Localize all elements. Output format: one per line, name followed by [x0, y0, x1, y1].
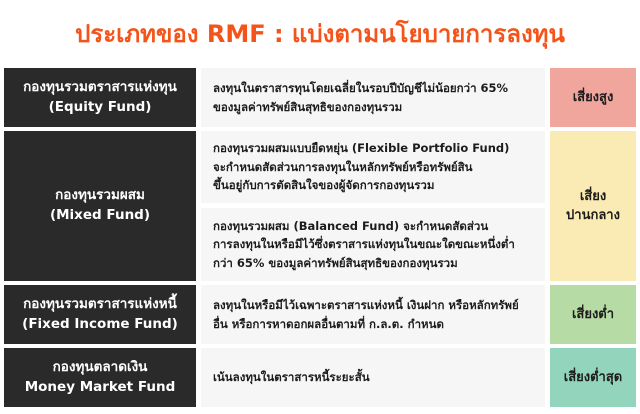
fund-name-english: (Equity Fund): [49, 98, 152, 118]
description-line: เน้นลงทุนในตราสารหนี้ระยะสั้น: [213, 368, 535, 387]
fund-name-thai: กองทุนรวมผสม: [55, 186, 145, 206]
fund-name-thai: กองทุนตลาดเงิน: [53, 358, 148, 378]
risk-badge-medium: เสี่ยง ปานกลาง: [550, 131, 636, 281]
page-title-text: ประเภทของ RMF : แบ่งตามนโยบายการลงทุน: [75, 21, 565, 47]
page-title: ประเภทของ RMF : แบ่งตามนโยบายการลงทุน: [0, 10, 640, 58]
infographic-page: ประเภทของ RMF : แบ่งตามนโยบายการลงทุน กอ…: [0, 0, 640, 414]
table-row: กองทุนรวมตราสารแห่งทุน (Equity Fund) ลงท…: [4, 68, 636, 127]
risk-badge-label: ปานกลาง: [566, 206, 620, 226]
fund-name-thai: กองทุนรวมตราสารแห่งหนี้: [23, 295, 177, 315]
fund-types-table: กองทุนรวมตราสารแห่งทุน (Equity Fund) ลงท…: [4, 68, 636, 410]
table-row: กองทุนรวมตราสารแห่งหนี้ (Fixed Income Fu…: [4, 285, 636, 344]
fund-name-cell-fixed-income: กองทุนรวมตราสารแห่งหนี้ (Fixed Income Fu…: [4, 285, 196, 344]
risk-badge-high: เสี่ยงสูง: [550, 68, 636, 127]
description-line: ของมูลค่าทรัพย์สินสุทธิของกองทุนรวม: [213, 98, 535, 117]
risk-badge-label: เสี่ยงต่ำ: [572, 305, 614, 325]
risk-badge-lowest: เสี่ยงต่ำสุด: [550, 348, 636, 407]
description-column: เน้นลงทุนในตราสารหนี้ระยะสั้น: [201, 348, 545, 407]
description-line: ขึ้นอยู่กับการตัดสินใจของผู้จัดการกองทุน…: [213, 176, 535, 195]
fund-name-cell-money-market: กองทุนตลาดเงิน Money Market Fund: [4, 348, 196, 407]
description-line: กว่า 65% ของมูลค่าทรัพย์สินสุทธิของกองทุ…: [213, 254, 535, 273]
description-line: ลงทุนในหรือมีไว้เฉพาะตราสารแห่งหนี้ เงิน…: [213, 296, 535, 315]
fund-description-cell: ลงทุนในตราสารทุนโดยเฉลี่ยในรอบปีบัญชีไม่…: [201, 68, 545, 127]
description-column: กองทุนรวมผสมแบบยืดหยุ่น (Flexible Portfo…: [201, 131, 545, 281]
fund-name-thai: กองทุนรวมตราสารแห่งทุน: [23, 78, 177, 98]
fund-name-english: (Fixed Income Fund): [22, 315, 178, 335]
description-column: ลงทุนในหรือมีไว้เฉพาะตราสารแห่งหนี้ เงิน…: [201, 285, 545, 344]
risk-badge-label: เสี่ยงต่ำสุด: [564, 368, 622, 388]
risk-badge-label: เสี่ยงสูง: [573, 88, 614, 108]
description-line: กองทุนรวมผสม (Balanced Fund) จะกำหนดสัดส…: [213, 217, 535, 236]
risk-badge-low: เสี่ยงต่ำ: [550, 285, 636, 344]
fund-name-cell-equity: กองทุนรวมตราสารแห่งทุน (Equity Fund): [4, 68, 196, 127]
fund-description-cell-balanced: กองทุนรวมผสม (Balanced Fund) จะกำหนดสัดส…: [201, 208, 545, 281]
description-line: ลงทุนในตราสารทุนโดยเฉลี่ยในรอบปีบัญชีไม่…: [213, 79, 535, 98]
fund-name-cell-mixed: กองทุนรวมผสม (Mixed Fund): [4, 131, 196, 281]
description-line: การลงทุนในหรือมีไว้ซึ่งตราสารแห่งทุนในขณ…: [213, 235, 535, 254]
fund-description-cell: เน้นลงทุนในตราสารหนี้ระยะสั้น: [201, 348, 545, 407]
description-line: กองทุนรวมผสมแบบยืดหยุ่น (Flexible Portfo…: [213, 139, 535, 158]
risk-badge-label: เสี่ยง: [580, 187, 606, 207]
fund-description-cell: ลงทุนในหรือมีไว้เฉพาะตราสารแห่งหนี้ เงิน…: [201, 285, 545, 344]
table-row: กองทุนรวมผสม (Mixed Fund) กองทุนรวมผสมแบ…: [4, 131, 636, 281]
fund-description-cell-flexible: กองทุนรวมผสมแบบยืดหยุ่น (Flexible Portfo…: [201, 131, 545, 203]
description-line: อื่น หรือการหาดอกผลอื่นตามที่ ก.ล.ต. กำห…: [213, 315, 535, 334]
description-line: จะกำหนดสัดส่วนการลงทุนในหลักทรัพย์หรือทร…: [213, 158, 535, 177]
fund-name-english: (Mixed Fund): [50, 206, 150, 226]
table-row: กองทุนตลาดเงิน Money Market Fund เน้นลงท…: [4, 348, 636, 407]
description-column: ลงทุนในตราสารทุนโดยเฉลี่ยในรอบปีบัญชีไม่…: [201, 68, 545, 127]
fund-name-english: Money Market Fund: [25, 378, 176, 398]
